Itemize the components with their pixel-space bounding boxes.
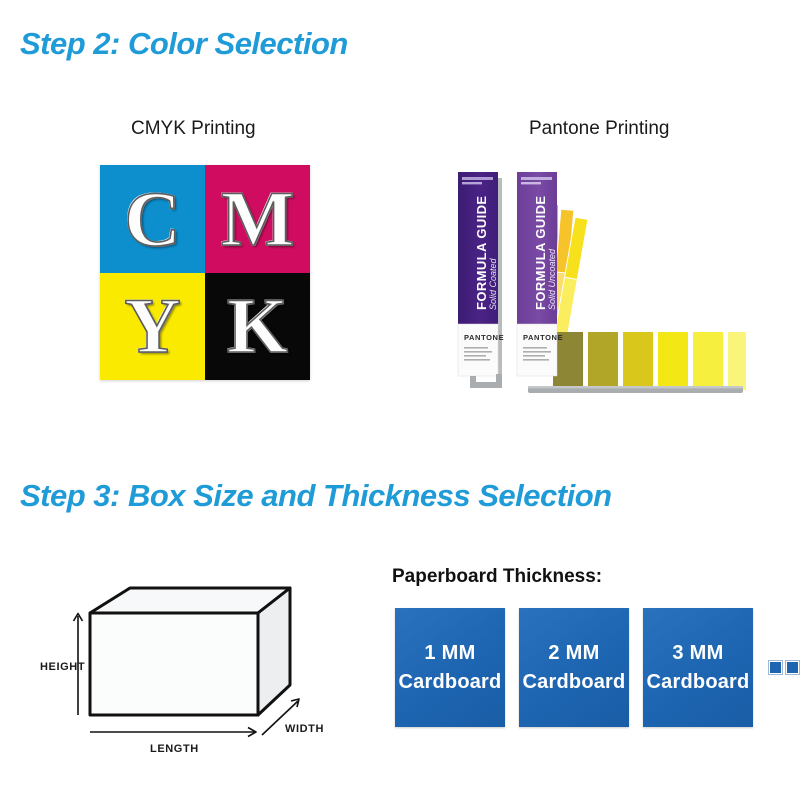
length-arrow [90,728,256,737]
cmyk-cell-cyan: C [100,165,205,273]
thickness-value: 1 MM [424,643,475,663]
thickness-option-3mm[interactable]: 3 MM Cardboard [643,608,753,727]
cmyk-letter-c: C [124,180,180,258]
ellipsis-square [786,661,799,674]
ellipsis-square [769,661,782,674]
cmyk-color-block: C M Y K [100,165,310,380]
svg-text:PANTONE: PANTONE [464,333,504,342]
box-shape [90,588,290,715]
svg-text:Solid Coated: Solid Coated [488,257,498,310]
fan-front-swatches [553,332,746,390]
svg-text:FORMULA GUIDE: FORMULA GUIDE [533,196,548,311]
length-label: LENGTH [150,743,199,755]
height-label: HEIGHT [40,661,85,673]
cmyk-cell-black: K [205,273,310,381]
thickness-value: 2 MM [548,643,599,663]
cmyk-cell-yellow: Y [100,273,205,381]
thickness-option-2mm[interactable]: 2 MM Cardboard [519,608,629,727]
cmyk-letter-k: K [227,287,288,365]
width-label: WIDTH [285,723,324,735]
svg-text:PANTONE: PANTONE [523,333,563,342]
thickness-material: Cardboard [399,672,502,692]
step-3-heading: Step 3: Box Size and Thickness Selection [20,478,612,514]
paperboard-thickness-options: 1 MM Cardboard 2 MM Cardboard 3 MM Cardb… [395,608,800,727]
cmyk-section-title: CMYK Printing [131,118,256,140]
pantone-guide-solid-uncoated: FORMULA GUIDE Solid Uncoated PANTONE [517,172,563,376]
cmyk-letter-y: Y [124,287,180,365]
pantone-guide-solid-coated: FORMULA GUIDE Solid Coated PANTONE [458,172,504,376]
cmyk-letter-m: M [221,180,295,258]
thickness-option-1mm[interactable]: 1 MM Cardboard [395,608,505,727]
box-dimensions-diagram: HEIGHT LENGTH WIDTH [40,570,370,770]
infographic-page: Step 2: Color Selection CMYK Printing Pa… [0,0,800,800]
pantone-section-title: Pantone Printing [529,118,670,140]
paperboard-thickness-title: Paperboard Thickness: [392,566,602,588]
pantone-fan-deck-illustration: FORMULA GUIDE Solid Coated PANTONE FORMU… [440,160,750,400]
step-2-heading: Step 2: Color Selection [20,26,348,62]
svg-text:FORMULA GUIDE: FORMULA GUIDE [474,196,489,311]
thickness-material: Cardboard [647,672,750,692]
svg-text:Solid Uncoated: Solid Uncoated [547,248,557,310]
thickness-value: 3 MM [672,643,723,663]
more-options-ellipsis-icon [769,661,800,674]
thickness-material: Cardboard [523,672,626,692]
cmyk-cell-magenta: M [205,165,310,273]
